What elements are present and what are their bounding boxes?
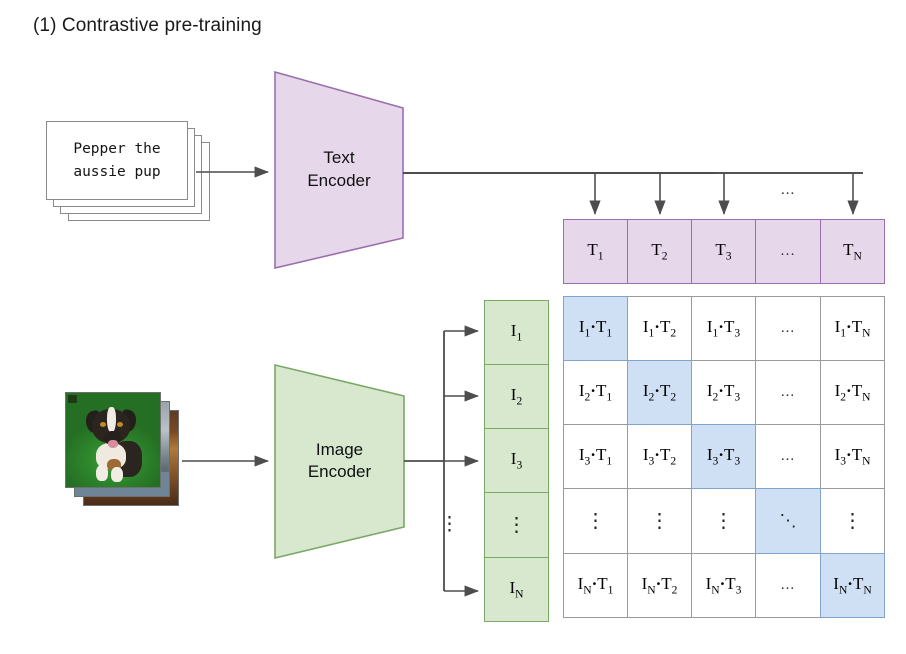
text-encoder-label-line-1: Text [275,147,403,170]
matrix-cell-1-4-label: ... [781,320,795,337]
matrix-cell-4-5: ⋮ [820,488,885,554]
image-encoder-label-line-1: Image [275,439,404,462]
image-embedding-I2-label: I2 [511,385,522,407]
image-bus-vertical-ellipsis: ⋮ [440,513,459,536]
text-encoder-label-line-2: Encoder [275,170,403,193]
matrix-cell-4-3: ⋮ [691,488,756,554]
text-embedding-ellipsis: … [755,219,821,284]
matrix-cell-1-1-label: I1·T1 [579,317,612,339]
image-embedding-IN-label: IN [509,578,523,600]
matrix-cell-5-1: IN·T1 [563,553,628,618]
matrix-cell-3-1: I3·T1 [563,424,628,489]
image-embedding-I1-sub: 1 [516,331,522,344]
matrix-cell-1-1: I1·T1 [563,296,628,361]
matrix-cell-1-5: I1·TN [820,296,885,361]
matrix-cell-1-4: ... [755,296,821,361]
image-embedding-ellipsis-label: ⋮ [507,519,527,531]
matrix-cell-4-2: ⋮ [627,488,692,554]
matrix-cell-4-3-label: ⋮ [714,515,734,527]
image-embedding-I2: I2 [484,364,549,429]
image-embedding-ellipsis: ⋮ [484,492,549,558]
image-embedding-I1-label: I1 [511,321,522,343]
matrix-cell-3-4-label: ... [781,448,795,465]
matrix-cell-5-5-label: IN·TN [833,574,871,596]
matrix-cell-2-3-label: I2·T3 [707,381,740,403]
matrix-cell-4-4: ⋱ [755,488,821,554]
image-encoder-label: Image Encoder [275,439,404,485]
matrix-cell-4-1: ⋮ [563,488,628,554]
matrix-cell-2-1-label: I2·T1 [579,381,612,403]
image-embedding-I3-label: I3 [511,449,522,471]
image-embedding-IN: IN [484,557,549,622]
matrix-cell-2-2: I2·T2 [627,360,692,425]
matrix-cell-3-4: ... [755,424,821,489]
matrix-cell-5-2: IN·T2 [627,553,692,618]
matrix-cell-2-1: I2·T1 [563,360,628,425]
matrix-cell-3-3-label: I3·T3 [707,445,740,467]
text-embedding-T3-label: T3 [715,240,731,262]
text-embedding-T3-sub: 3 [726,250,732,263]
image-embedding-I2-sub: 2 [516,395,522,408]
matrix-cell-3-1-label: I3·T1 [579,445,612,467]
matrix-cell-3-5: I3·TN [820,424,885,489]
text-embedding-TN-sub: N [854,250,862,263]
matrix-cell-4-5-label: ⋮ [843,515,863,527]
matrix-cell-2-5: I2·TN [820,360,885,425]
text-encoder-label: Text Encoder [275,147,403,193]
matrix-cell-1-2-label: I1·T2 [643,317,676,339]
clip-contrastive-pretraining-figure: (1) Contrastive pre-training Pepper the … [0,0,906,654]
text-embedding-T1-label: T1 [587,240,603,262]
matrix-cell-2-4: ... [755,360,821,425]
text-embedding-TN-label: TN [843,240,862,262]
text-embedding-T3: T3 [691,219,756,284]
image-embedding-I3: I3 [484,428,549,493]
text-embedding-T1: T1 [563,219,628,284]
matrix-cell-4-2-label: ⋮ [650,515,670,527]
image-embedding-IN-sub: N [515,588,523,601]
text-encoder-label-wrap: Text Encoder [275,72,403,268]
text-embedding-TN: TN [820,219,885,284]
text-embedding-T1-sub: 1 [598,250,604,263]
matrix-cell-5-4: ... [755,553,821,618]
matrix-cell-4-1-label: ⋮ [586,515,606,527]
matrix-cell-5-4-label: ... [781,577,795,594]
matrix-cell-3-2: I3·T2 [627,424,692,489]
image-embedding-I1: I1 [484,300,549,365]
image-embedding-I3-sub: 3 [516,459,522,472]
matrix-cell-5-3-label: IN·T3 [706,574,742,596]
matrix-cell-3-3: I3·T3 [691,424,756,489]
text-embedding-T2-label: T2 [651,240,667,262]
text-embedding-ellipsis-label: … [780,243,796,260]
matrix-cell-2-2-label: I2·T2 [643,381,676,403]
image-encoder-label-line-2: Encoder [275,462,404,485]
matrix-cell-1-5-label: I1·TN [835,317,871,339]
matrix-cell-3-2-label: I3·T2 [643,445,676,467]
image-encoder-label-wrap: Image Encoder [275,365,404,558]
matrix-cell-2-4-label: ... [781,384,795,401]
matrix-cell-5-2-label: IN·T2 [642,574,678,596]
matrix-cell-1-2: I1·T2 [627,296,692,361]
matrix-cell-4-4-label: ⋱ [780,511,797,531]
matrix-cell-2-5-label: I2·TN [835,381,871,403]
matrix-cell-5-3: IN·T3 [691,553,756,618]
matrix-cell-2-3: I2·T3 [691,360,756,425]
matrix-cell-5-1-label: IN·T1 [578,574,614,596]
text-embedding-T2-sub: 2 [662,250,668,263]
matrix-cell-3-5-label: I3·TN [835,445,871,467]
text-embedding-T2: T2 [627,219,692,284]
matrix-cell-1-3: I1·T3 [691,296,756,361]
matrix-cell-1-3-label: I1·T3 [707,317,740,339]
matrix-cell-5-5: IN·TN [820,553,885,618]
text-bus-ellipsis: ... [781,182,795,199]
